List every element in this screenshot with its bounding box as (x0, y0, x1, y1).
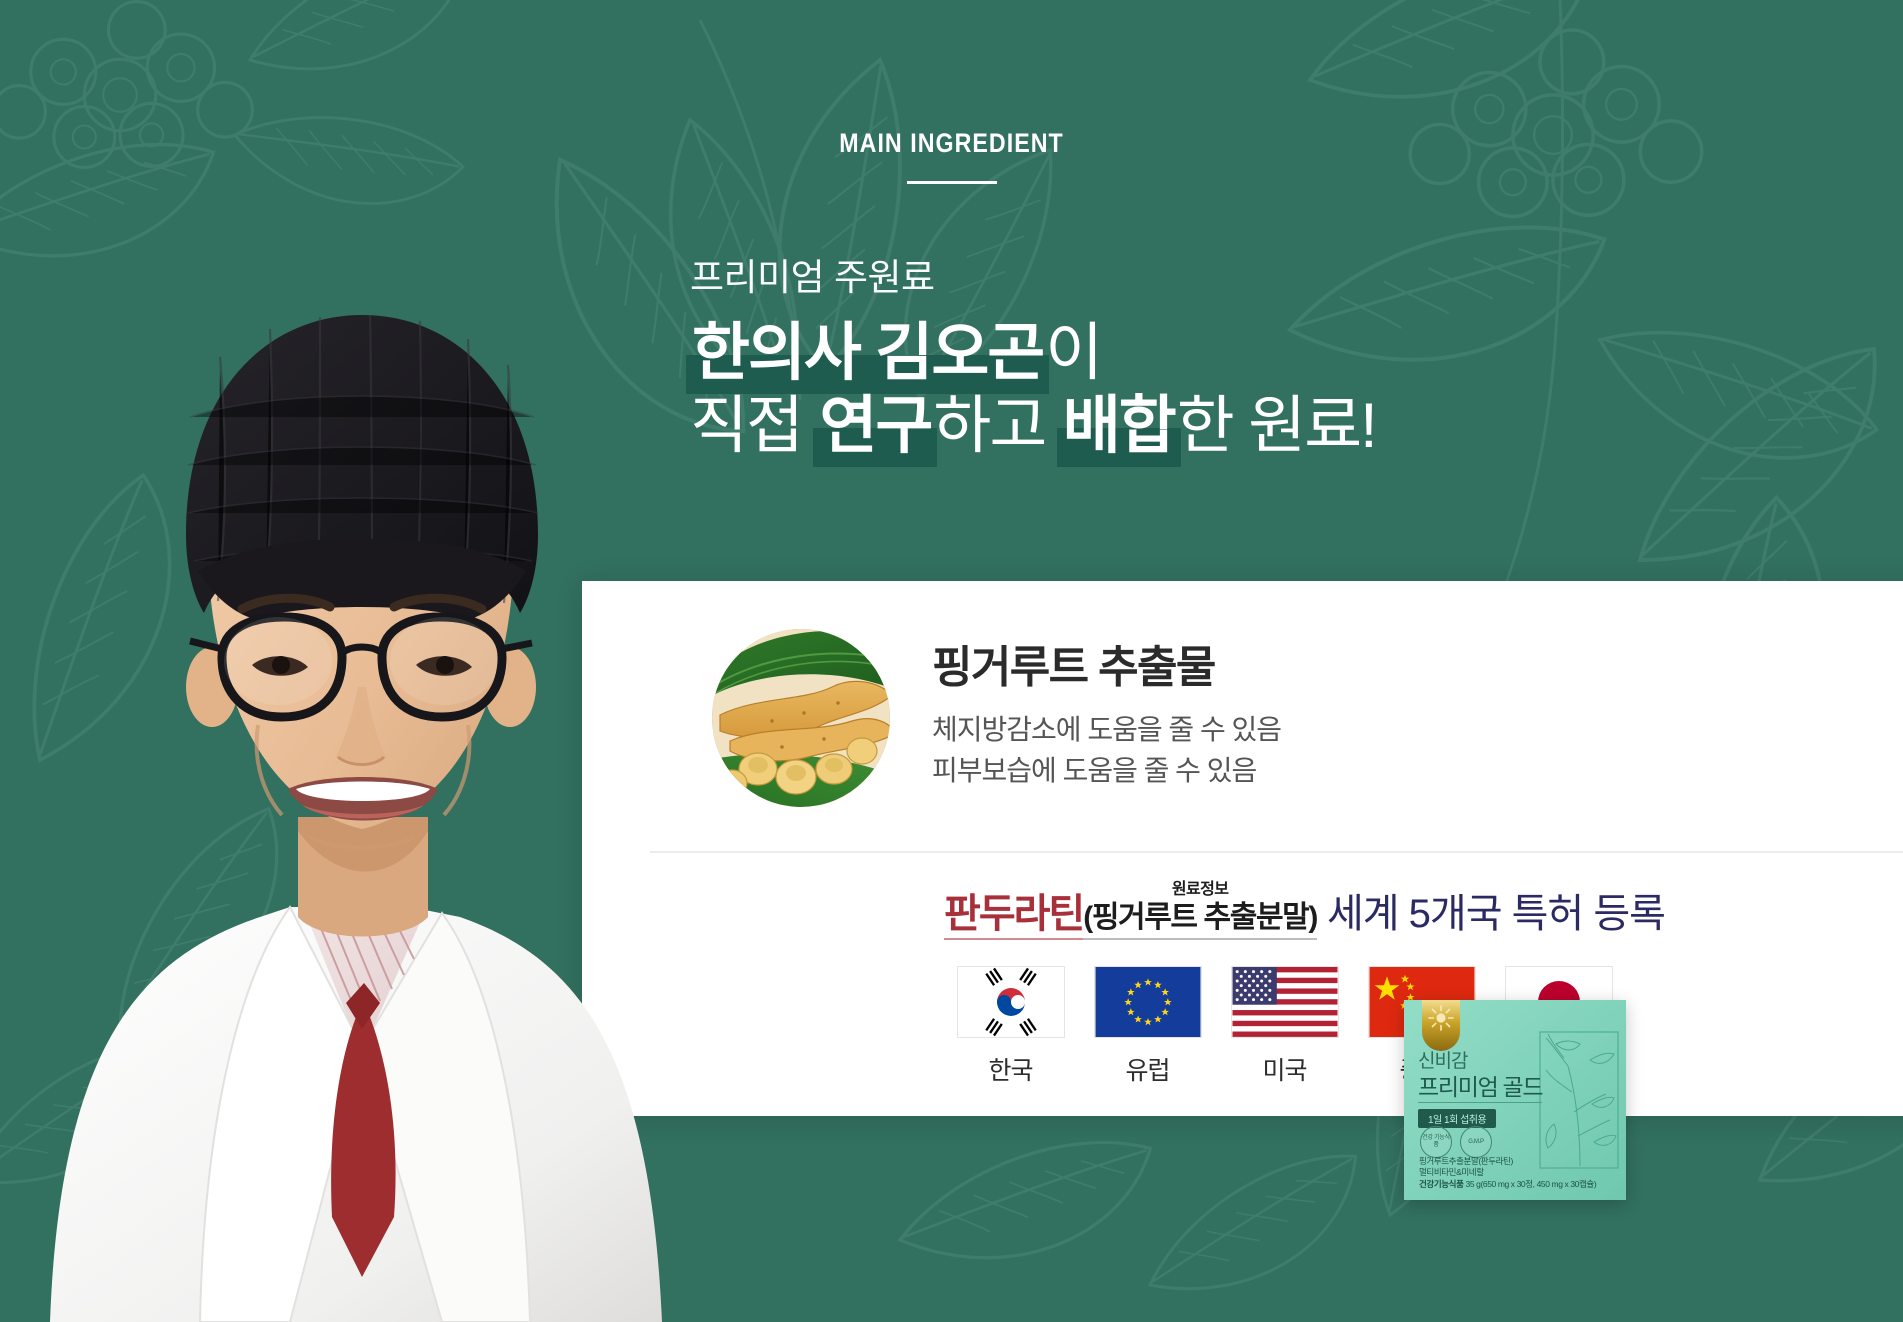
package-fine-line-1: 핑거루트추출분말(판두라틴) (1419, 1156, 1616, 1167)
ingredient-row: 핑거루트 추출물 체지방감소에 도움을 줄 수 있음 피부보습에 도움을 줄 수… (712, 629, 1281, 807)
package-certification-badges: 건강 기능식품 G.M.P (1420, 1126, 1492, 1158)
headline-line-2-tail: 한 원료! (1177, 391, 1376, 461)
package-product-name: 프리미엄 골드 (1418, 1075, 1542, 1103)
headline-highlight-blend: 배합 (1061, 390, 1177, 463)
ingredient-text-block: 핑거루트 추출물 체지방감소에 도움을 줄 수 있음 피부보습에 도움을 줄 수… (932, 644, 1281, 791)
package-text-block: 신비감 프리미엄 골드 1일 1회 섭취용 (1418, 1052, 1542, 1128)
section-header: MAIN INGREDIENT (0, 128, 1903, 184)
patent-compound-parenthetical: 원료정보(핑거루트 추출분말) (1083, 901, 1317, 940)
flag-label-usa: 미국 (1231, 1051, 1339, 1087)
headline-line-2-mid: 하고 (933, 391, 1060, 461)
product-package-box: 신비감 프리미엄 골드 1일 1회 섭취용 건강 기능식품 G.M.P 핑거루트… (1404, 1000, 1626, 1200)
badge-gmp: G.M.P (1460, 1126, 1492, 1158)
patent-registration-statement: 세계 5개국 특허 등록 (1327, 892, 1665, 936)
card-divider (650, 851, 1903, 853)
headline-line-1: 한의사 김오곤이 (690, 317, 1376, 390)
flag-korea-icon (957, 966, 1065, 1038)
flag-usa-icon (1231, 966, 1339, 1038)
flag-cell-korea: 한국 (957, 966, 1065, 1087)
flag-label-eu: 유럽 (1094, 1051, 1202, 1087)
patent-statement-inner: 판두라틴원료정보(핑거루트 추출분말)세계 5개국 특허 등록 (904, 881, 1665, 939)
headline-highlight-research: 연구 (817, 390, 933, 463)
flag-label-korea: 한국 (957, 1051, 1065, 1087)
badge-health-food: 건강 기능식품 (1420, 1126, 1452, 1158)
ingredient-benefit-1: 체지방감소에 도움을 줄 수 있음 (932, 709, 1281, 750)
kicker-underline-rule (907, 181, 997, 184)
package-fine-print: 핑거루트추출분말(판두라틴) 멀티비타민&미네랄 건강기능식품 35 g(650… (1419, 1156, 1616, 1190)
ingredient-title: 핑거루트 추출물 (932, 644, 1281, 692)
headline-subtitle: 프리미엄 주원료 (690, 258, 1376, 299)
ingredient-benefit-2: 피부보습에 도움을 줄 수 있음 (932, 750, 1281, 791)
headline-highlight-doctor-name: 한의사 김오곤 (690, 317, 1045, 390)
package-fine-line-2: 멀티비타민&미네랄 (1419, 1167, 1616, 1178)
patent-source-superscript: 원료정보 (1172, 875, 1228, 899)
advertisement-banner: MAIN INGREDIENT 프리미엄 주원료 한의사 김오곤이 직접 연구하… (0, 0, 1903, 1322)
package-brand-name: 신비감 (1418, 1052, 1542, 1072)
section-kicker-label: MAIN INGREDIENT (839, 128, 1063, 159)
headline-line-1-tail: 이 (1045, 318, 1101, 388)
flag-cell-eu: 유럽 (1094, 966, 1202, 1087)
ingredient-info-card: 핑거루트 추출물 체지방감소에 도움을 줄 수 있음 피부보습에 도움을 줄 수… (582, 581, 1903, 1116)
finger-root-photo-icon (712, 629, 890, 807)
patent-parenthetical-text: (핑거루트 추출분말) (1083, 901, 1317, 934)
patent-country-flags: 한국 (582, 966, 1903, 1087)
package-fine-label: 건강기능식품 (1419, 1179, 1464, 1189)
package-fine-value: 35 g(650 mg x 30정, 450 mg x 30캡슐) (1466, 1179, 1597, 1189)
flag-cell-usa: 미국 (1231, 966, 1339, 1087)
headline-line-2-lead: 직접 (690, 391, 817, 461)
package-fine-line-3: 건강기능식품 35 g(650 mg x 30정, 450 mg x 30캡슐) (1419, 1179, 1616, 1190)
headline-block: 프리미엄 주원료 한의사 김오곤이 직접 연구하고 배합한 원료! (690, 258, 1376, 463)
patent-statement-row: 판두라틴원료정보(핑거루트 추출분말)세계 5개국 특허 등록 (582, 881, 1903, 939)
headline-line-2: 직접 연구하고 배합한 원료! (690, 390, 1376, 463)
flag-eu-icon (1094, 966, 1202, 1038)
patent-compound-name: 판두라틴 (944, 892, 1083, 940)
